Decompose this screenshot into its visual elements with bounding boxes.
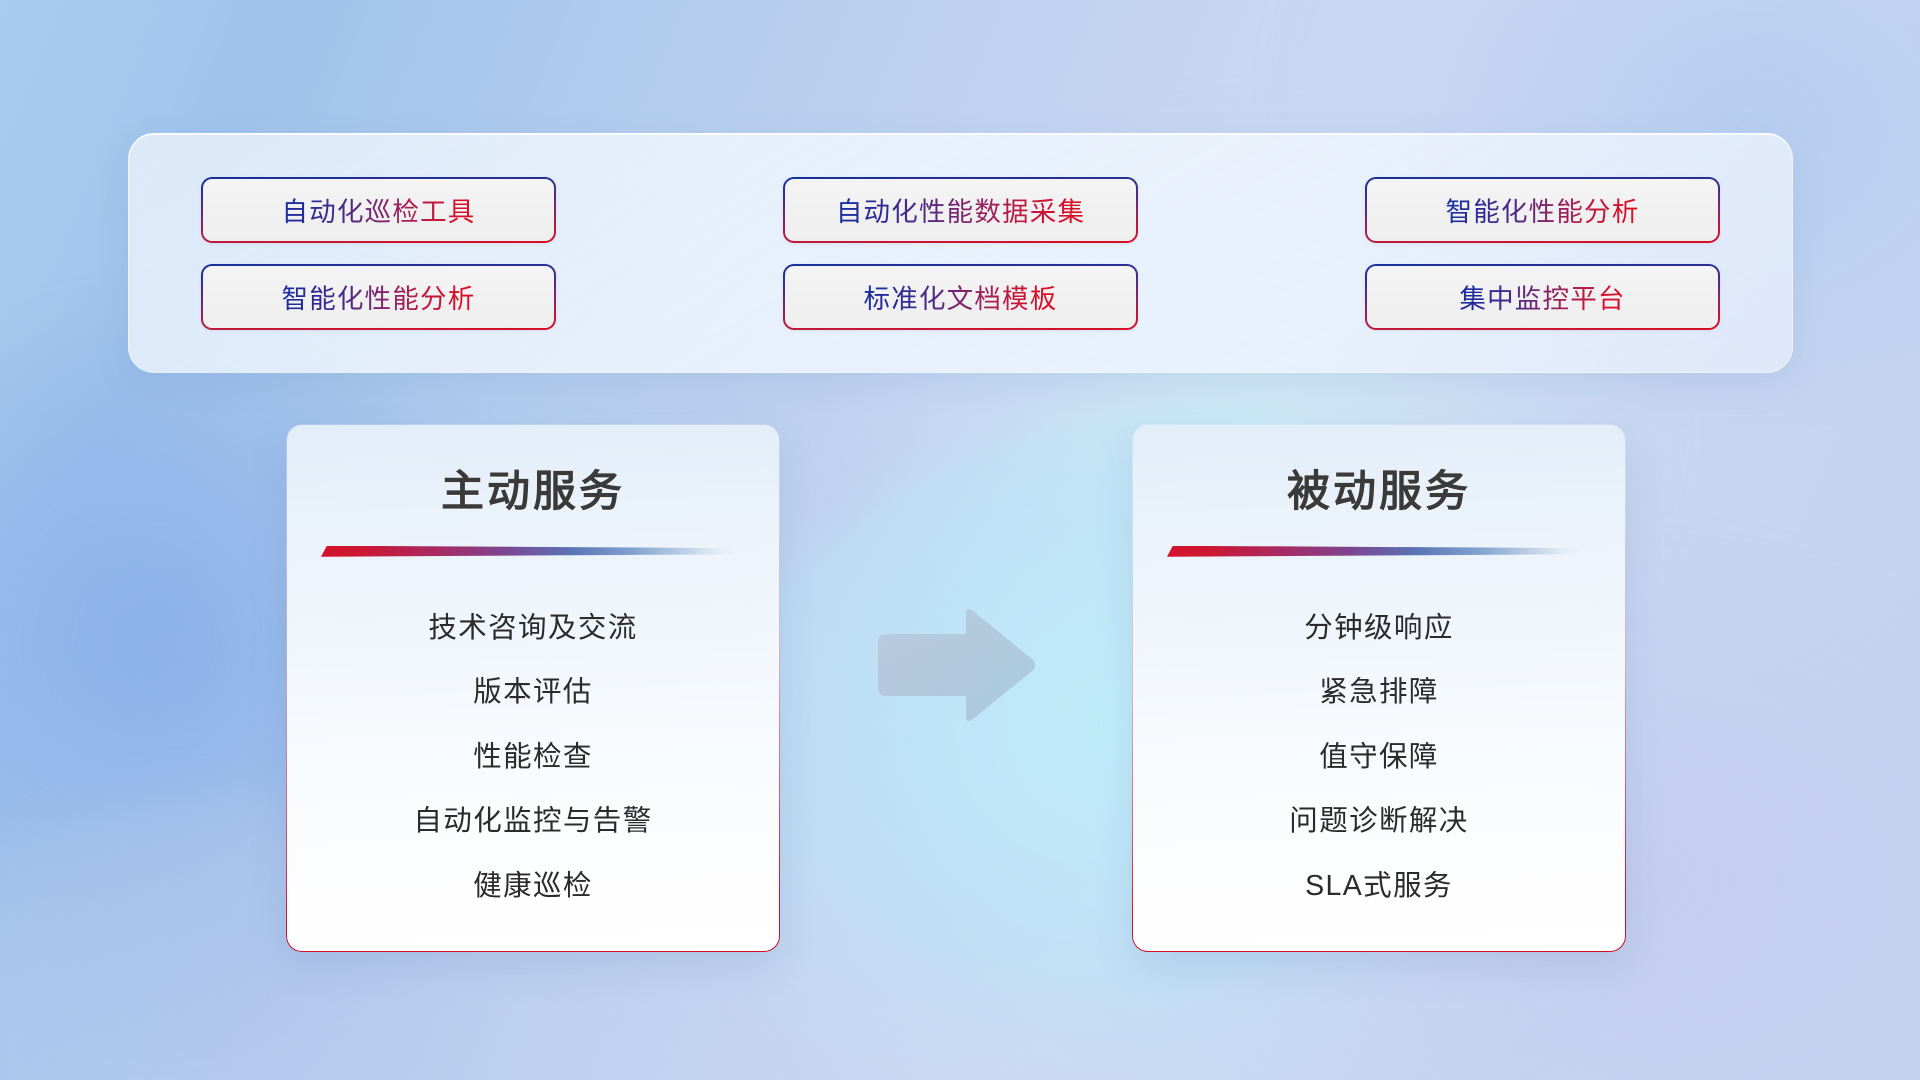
title-divider-bar — [321, 546, 737, 557]
capability-tag-row-1: 自动化巡检工具 自动化性能数据采集 智能化性能分析 — [201, 177, 1720, 243]
capability-tag-label: 自动化巡检工具 — [282, 190, 476, 229]
service-item: 版本评估 — [473, 660, 593, 725]
title-divider — [321, 544, 737, 560]
arrow-right-icon — [872, 606, 1038, 724]
service-card-title: 被动服务 — [1167, 467, 1591, 518]
capability-tag-label: 标准化文档模板 — [864, 277, 1058, 316]
service-card-title: 主动服务 — [321, 467, 745, 518]
capability-tag-automated-inspection-tool[interactable]: 自动化巡检工具 — [201, 177, 556, 243]
title-divider — [1167, 544, 1583, 560]
service-card-passive[interactable]: 被动服务 分钟级响应 紧急排障 值守保障 问题诊断解决 SLA式服务 — [1132, 424, 1626, 952]
capability-tag-label: 智能化性能分析 — [1446, 190, 1640, 229]
capability-tag-intelligent-performance-analysis-b[interactable]: 智能化性能分析 — [201, 264, 556, 330]
capability-tag-intelligent-performance-analysis-a[interactable]: 智能化性能分析 — [1365, 177, 1720, 243]
service-item: SLA式服务 — [1305, 854, 1453, 919]
service-item: 分钟级响应 — [1304, 596, 1454, 661]
capability-tag-standardized-document-template[interactable]: 标准化文档模板 — [783, 264, 1138, 330]
service-item: 技术咨询及交流 — [428, 596, 637, 661]
capability-tag-automated-performance-data-collection[interactable]: 自动化性能数据采集 — [783, 177, 1138, 243]
service-item-list: 技术咨询及交流 版本评估 性能检查 自动化监控与告警 健康巡检 — [321, 596, 745, 919]
service-item: 自动化监控与告警 — [413, 789, 652, 854]
service-item: 值守保障 — [1319, 725, 1439, 790]
capability-tag-centralized-monitoring-platform[interactable]: 集中监控平台 — [1365, 264, 1720, 330]
service-item-list: 分钟级响应 紧急排障 值守保障 问题诊断解决 SLA式服务 — [1167, 596, 1591, 919]
service-item: 紧急排障 — [1319, 660, 1439, 725]
capability-tag-label: 智能化性能分析 — [282, 277, 476, 316]
capability-tag-label: 自动化性能数据采集 — [836, 190, 1085, 229]
capability-tag-label: 集中监控平台 — [1459, 277, 1625, 316]
capability-tag-panel: 自动化巡检工具 自动化性能数据采集 智能化性能分析 智能化性能分析 标准化文档模… — [128, 133, 1793, 373]
title-divider-bar — [1167, 546, 1583, 557]
service-item: 问题诊断解决 — [1289, 789, 1468, 854]
slide-canvas: 自动化巡检工具 自动化性能数据采集 智能化性能分析 智能化性能分析 标准化文档模… — [0, 0, 1920, 1080]
capability-tag-row-2: 智能化性能分析 标准化文档模板 集中监控平台 — [201, 264, 1720, 330]
service-card-active[interactable]: 主动服务 技术咨询及交流 版本评估 性能检查 自动化监控与告警 健康巡检 — [286, 424, 780, 952]
service-item: 性能检查 — [473, 725, 593, 790]
service-item: 健康巡检 — [473, 854, 593, 919]
